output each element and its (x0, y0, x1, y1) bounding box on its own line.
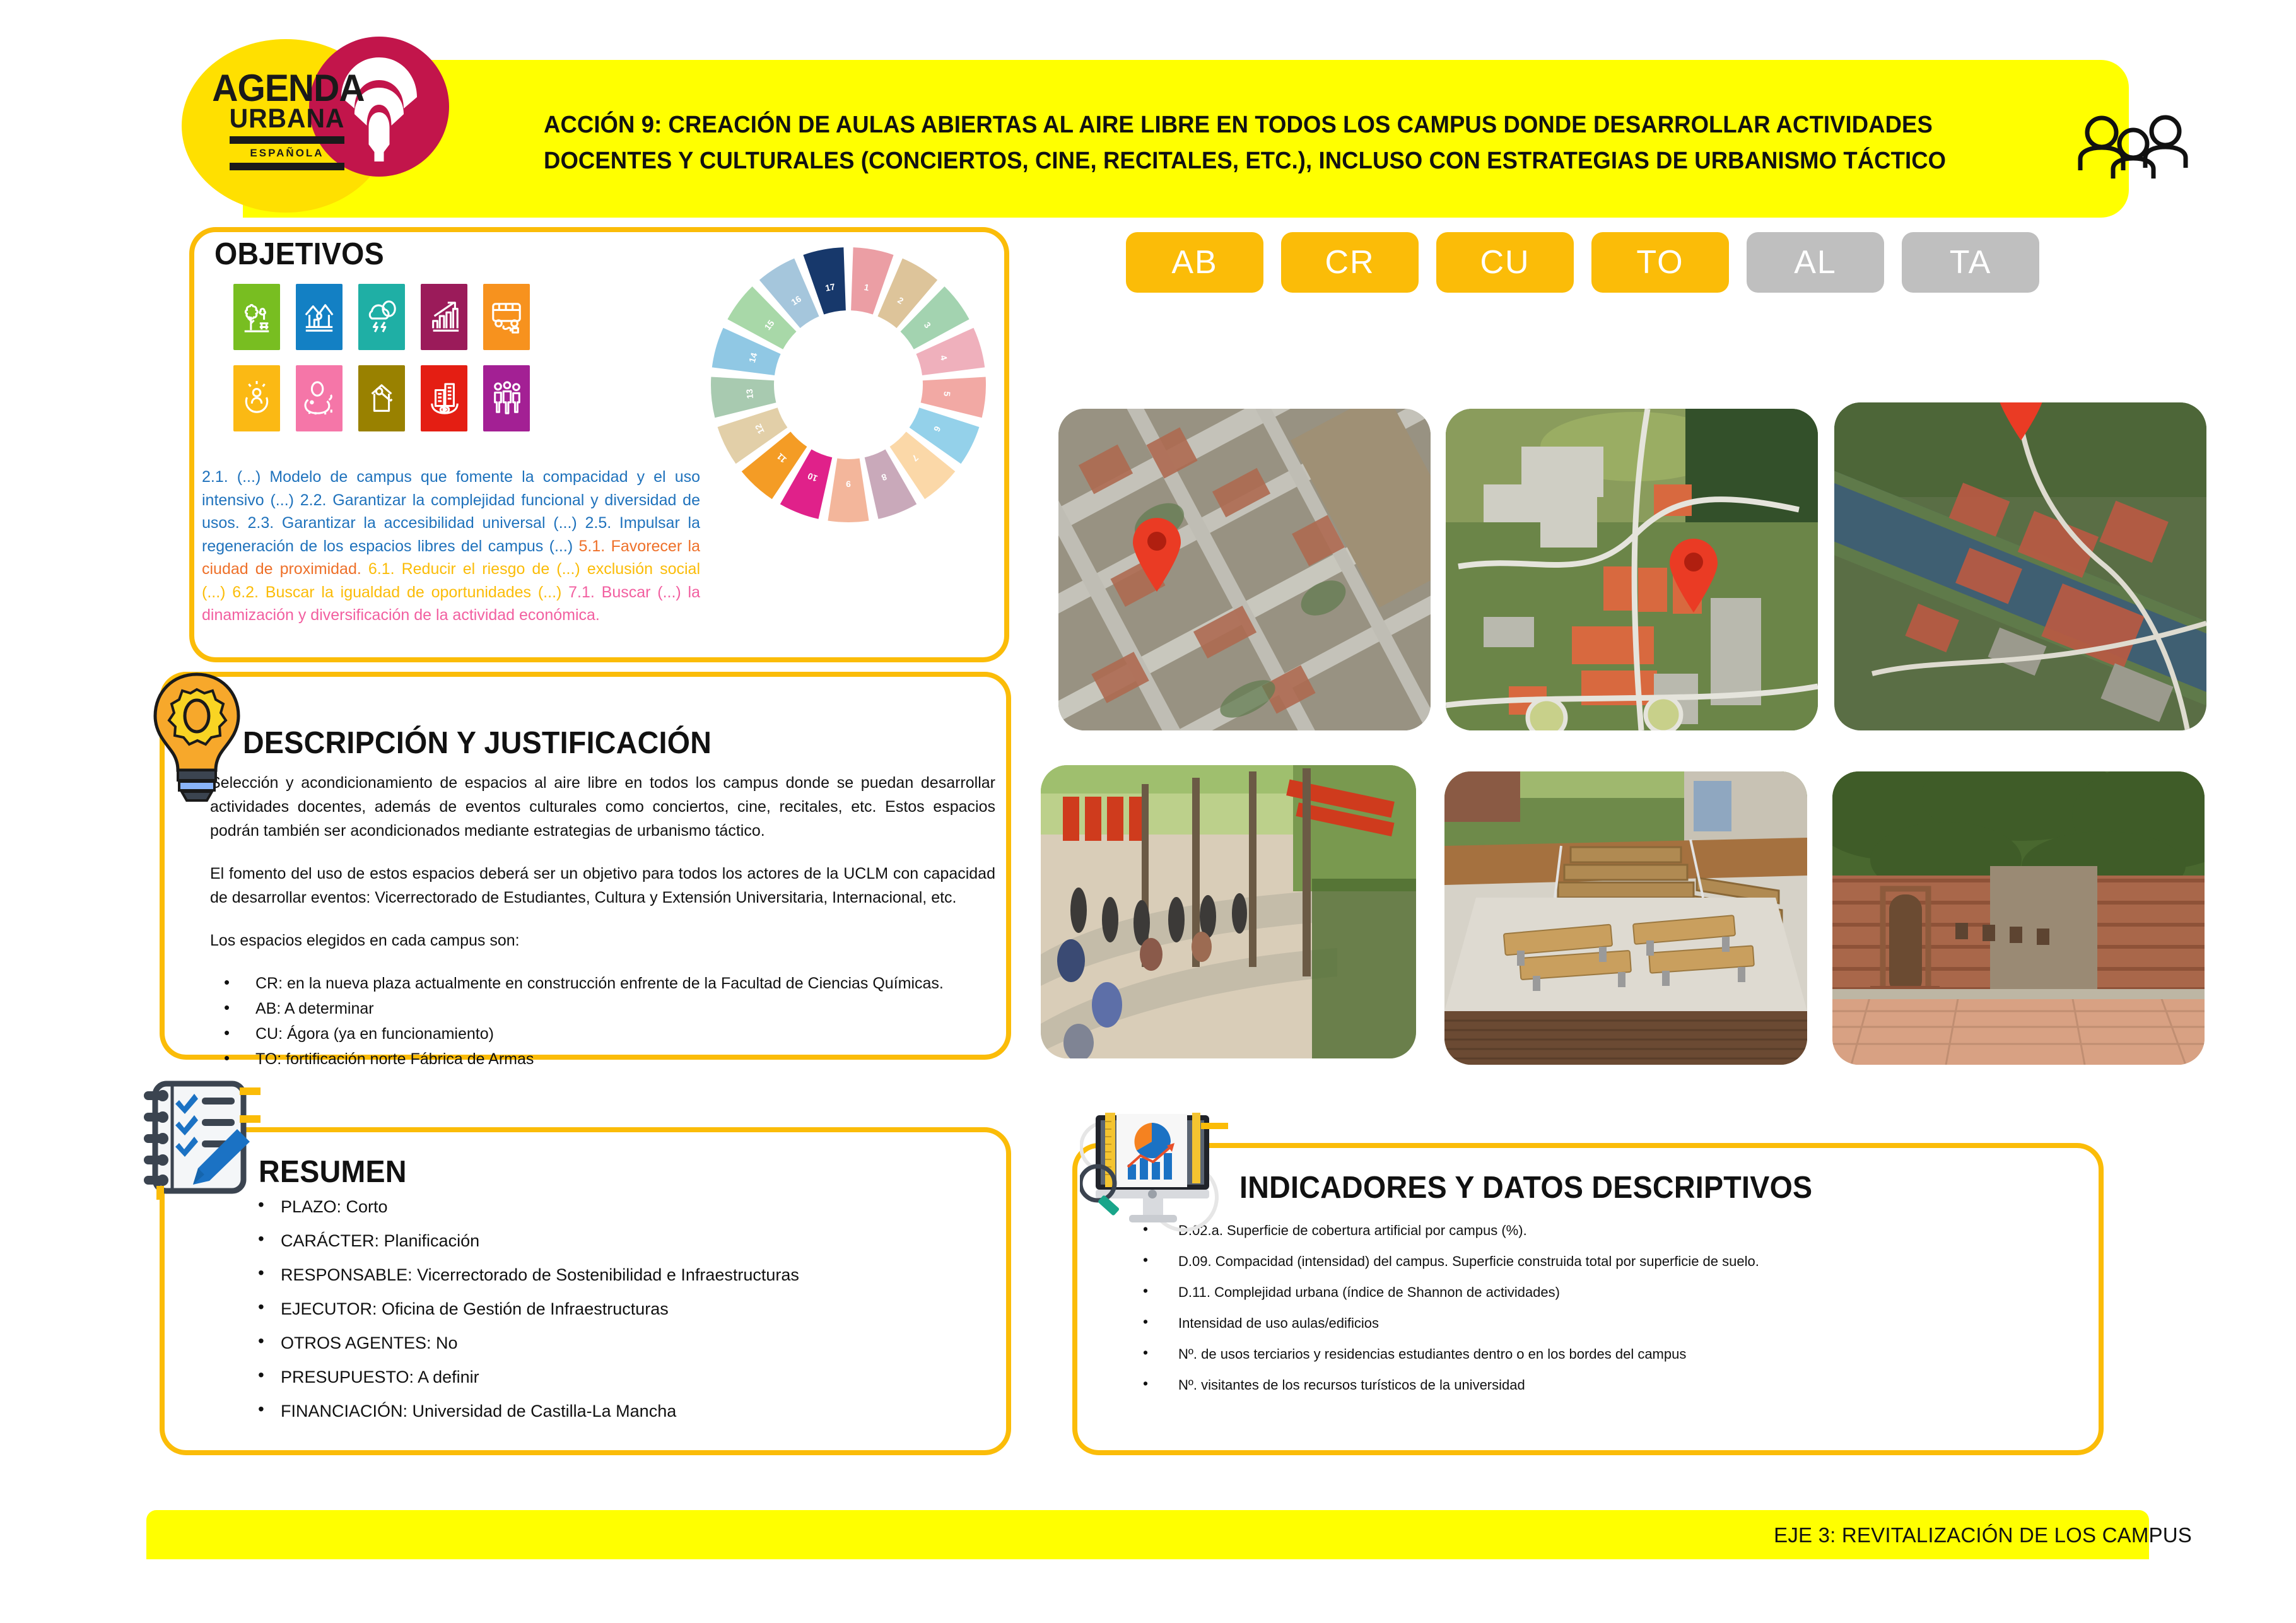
resumen-item-4: OTROS AGENTES: No (249, 1335, 975, 1352)
page-title: ACCIÓN 9: CREACIÓN DE AULAS ABIERTAS AL … (544, 107, 1997, 179)
sdg-goal-number-13: 13 (744, 389, 755, 399)
descripcion-title: DESCRIPCIÓN Y JUSTIFICACIÓN (243, 725, 712, 761)
campus-tag-group: ABCRCUTOALTA (1126, 232, 2039, 293)
objetivos-icon-grid (233, 284, 530, 431)
resumen-item-6: FINANCIACIÓN: Universidad de Castilla-La… (249, 1403, 975, 1420)
monitor-charts-magnifier-icon (1080, 1109, 1228, 1245)
house-mountain-icon (296, 284, 343, 350)
campus-tag-ab[interactable]: AB (1126, 232, 1263, 293)
photo-agora-stage-wooden-benches (1444, 771, 1807, 1065)
sdg-goal-9 (828, 459, 869, 522)
electric-bus-icon (483, 284, 530, 350)
piggy-bank-icon (296, 365, 343, 431)
resumen-list: PLAZO: CortoCARÁCTER: PlanificaciónRESPO… (249, 1198, 975, 1437)
descripcion-paragraph-2: El fomento del uso de estos espacios deb… (210, 862, 995, 910)
descripcion-bullet-1: AB: A determinar (210, 997, 995, 1021)
campus-tag-cr[interactable]: CR (1281, 232, 1419, 293)
notepad-checklist-pencil-icon (144, 1080, 261, 1200)
resumen-title: RESUMEN (259, 1154, 407, 1190)
agenda-urbana-logo: AGENDA URBANA ESPAÑOLA (208, 71, 366, 170)
resumen-item-1: CARÁCTER: Planificación (249, 1233, 975, 1250)
objetivos-text: 2.1. (...) Modelo de campus que fomente … (202, 466, 700, 627)
resumen-item-2: RESPONSABLE: Vicerrectorado de Sostenibi… (249, 1267, 975, 1284)
campus-tag-to[interactable]: TO (1591, 232, 1729, 293)
resumen-item-0: PLAZO: Corto (249, 1198, 975, 1216)
sdg-17-goals-wheel-icon: 1234567891011121314151617 (706, 238, 990, 532)
indicadores-title: INDICADORES Y DATOS DESCRIPTIVOS (1239, 1170, 1812, 1205)
storm-cloud-icon (358, 284, 405, 350)
descripcion-bullet-0: CR: en la nueva plaza actualmente en con… (210, 971, 995, 995)
logo-espanola-text: ESPAÑOLA (208, 147, 366, 160)
growth-chart-icon (421, 284, 467, 350)
resumen-item-5: PRESUPUESTO: A definir (249, 1369, 975, 1386)
descripcion-paragraph-1: Selección y acondicionamiento de espacio… (210, 771, 995, 843)
group-family-icon (483, 365, 530, 431)
lightbulb-gear-icon (146, 671, 247, 803)
campus-tag-cu[interactable]: CU (1436, 232, 1574, 293)
sdg-goal-number-9: 9 (846, 479, 851, 489)
house-keys-icon (358, 365, 405, 431)
trees-park-icon (233, 284, 280, 350)
campus-tag-ta[interactable]: TA (1902, 232, 2039, 293)
logo-agenda-text: AGENDA (212, 71, 362, 105)
descripcion-body: Selección y acondicionamiento de espacio… (210, 771, 995, 1072)
photo-brick-courtyard-fortification (1832, 771, 2205, 1065)
indicador-item-1: D.09. Compacidad (intensidad) del campus… (1129, 1255, 2063, 1269)
descripcion-paragraph-3: Los espacios elegidos en cada campus son… (210, 929, 995, 952)
city-buildings-icon (421, 365, 467, 431)
logo-divider-bottom (230, 163, 344, 170)
sdg-goal-number-17: 17 (824, 281, 836, 293)
hands-people-icon (233, 365, 280, 431)
descripcion-bullet-list: CR: en la nueva plaza actualmente en con… (210, 971, 995, 1071)
campus-tag-al[interactable]: AL (1747, 232, 1884, 293)
indicador-item-0: D.02.a. Superficie de cobertura artifici… (1129, 1224, 2063, 1238)
descripcion-bullet-2: CU: Ágora (ya en funcionamiento) (210, 1022, 995, 1046)
group-people-icon (2072, 112, 2195, 179)
indicador-item-4: Nº. de usos terciarios y residencias est… (1129, 1347, 2063, 1361)
descripcion-bullet-3: TO: fortificación norte Fábrica de Armas (210, 1047, 995, 1071)
poster-page: AGENDA URBANA ESPAÑOLA ACCIÓN 9: CREACIÓ… (0, 0, 2296, 1623)
indicador-item-5: Nº. visitantes de los recursos turístico… (1129, 1378, 2063, 1392)
indicadores-list: D.02.a. Superficie de cobertura artifici… (1129, 1224, 2063, 1409)
logo-urbana-text: URBANA (212, 105, 362, 132)
aerial-map-campus-2 (1446, 409, 1818, 730)
resumen-item-3: EJECUTOR: Oficina de Gestión de Infraest… (249, 1301, 975, 1318)
aerial-map-campus-3 (1834, 402, 2206, 730)
indicador-item-2: D.11. Complejidad urbana (índice de Shan… (1129, 1286, 2063, 1299)
objetivos-title: OBJETIVOS (214, 237, 384, 272)
indicador-item-3: Intensidad de uso aulas/edificios (1129, 1316, 2063, 1330)
footer-label: EJE 3: REVITALIZACIÓN DE LOS CAMPUS (1774, 1523, 2192, 1547)
aerial-map-campus-1 (1058, 409, 1431, 730)
logo-divider-top (230, 136, 344, 144)
photo-outdoor-amphitheatre-uclm (1041, 765, 1416, 1058)
